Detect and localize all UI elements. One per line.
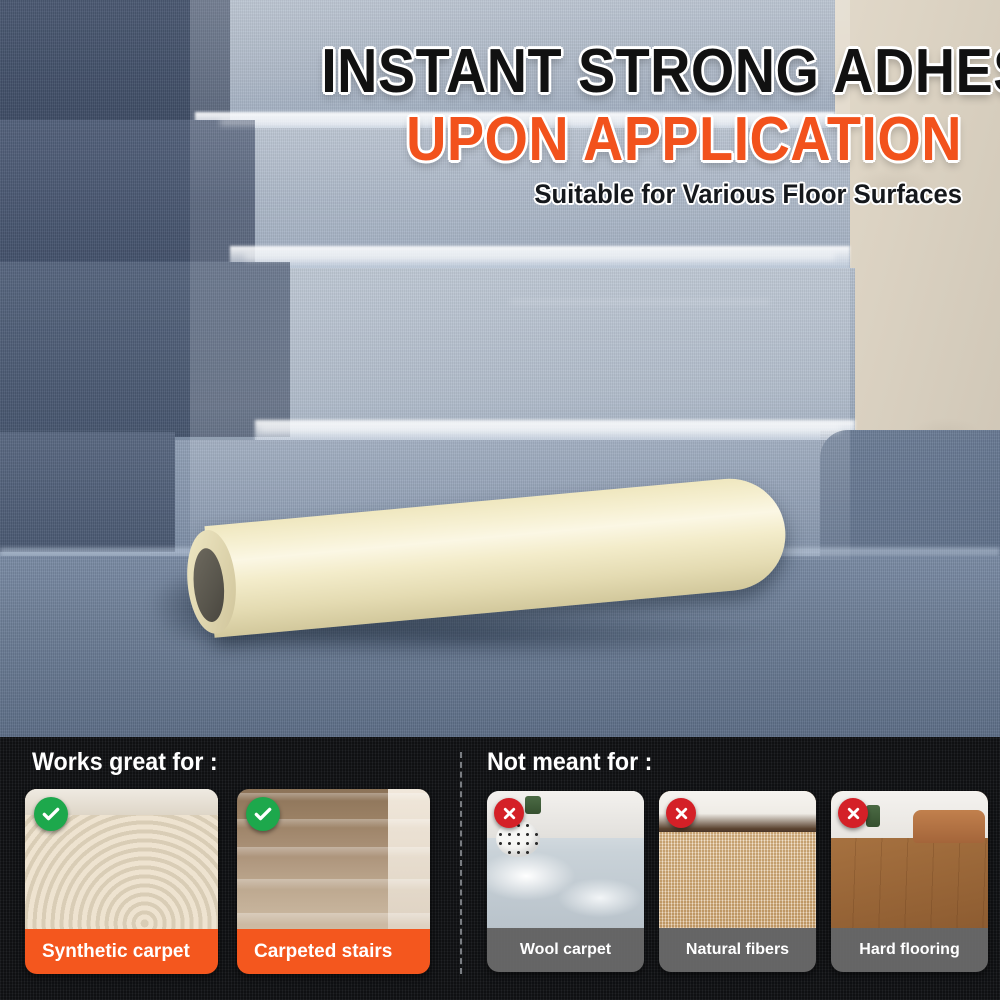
stair-riser-2 xyxy=(0,120,255,265)
headline-line-2: UPON APPLICATION xyxy=(321,110,962,170)
card-label-natural-fibers: Natural fibers xyxy=(659,928,816,972)
stair-nosing-2 xyxy=(230,246,850,270)
check-icon xyxy=(246,797,280,831)
stair-tread-3 xyxy=(255,268,855,443)
card-label-wool-carpet: Wool carpet xyxy=(487,928,644,972)
works-great-for-title: Works great for : xyxy=(32,748,218,777)
cross-icon xyxy=(494,798,524,828)
section-divider xyxy=(460,752,462,974)
headline-line-1: INSTANT STRONG ADHESION xyxy=(321,42,962,102)
hero-product-photo: INSTANT STRONG ADHESION UPON APPLICATION… xyxy=(0,0,1000,737)
not-meant-for-title: Not meant for : xyxy=(487,748,652,777)
roll-core xyxy=(191,547,228,623)
card-label-hard-flooring: Hard flooring xyxy=(831,928,988,972)
stair-riser-4 xyxy=(0,432,175,552)
stair-riser-1 xyxy=(0,0,230,120)
card-label-carpeted-stairs: Carpeted stairs xyxy=(237,929,430,974)
stair-riser-3 xyxy=(0,262,290,437)
check-icon xyxy=(34,797,68,831)
card-label-synthetic-carpet: Synthetic carpet xyxy=(25,929,218,974)
cross-icon xyxy=(838,798,868,828)
headline-block: INSTANT STRONG ADHESION UPON APPLICATION… xyxy=(250,42,962,210)
cross-icon xyxy=(666,798,696,828)
headline-subtitle: Suitable for Various Floor Surfaces xyxy=(286,179,962,210)
